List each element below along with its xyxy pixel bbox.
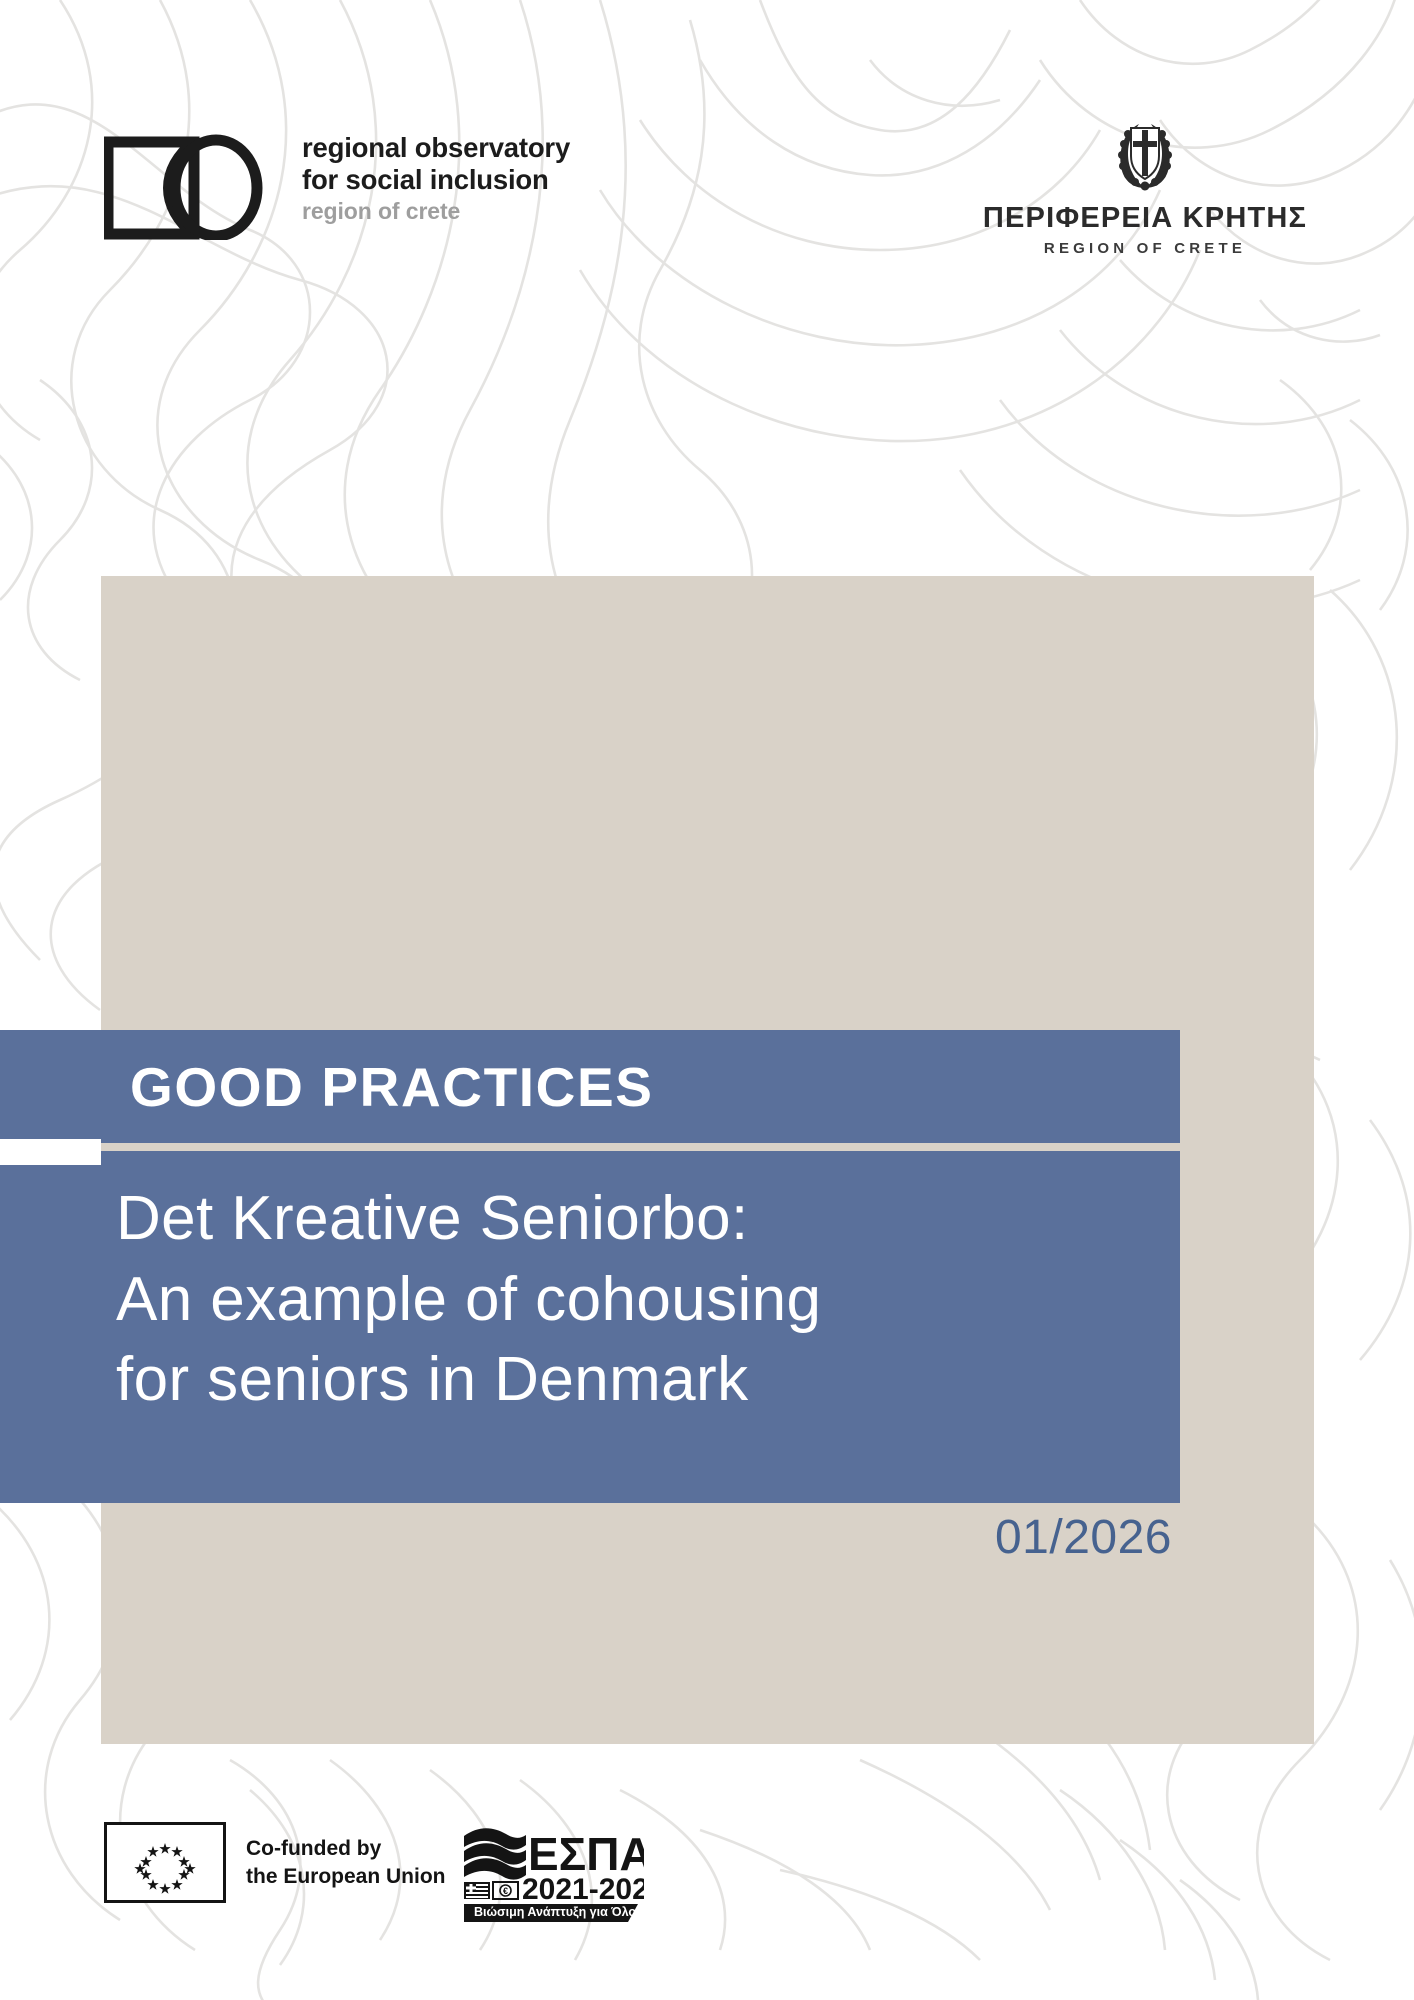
region-name-english: REGION OF CRETE [960, 240, 1330, 257]
eu-cofunding-logo: Co-funded by the European Union [104, 1822, 446, 1903]
observatory-line-3: region of crete [302, 198, 570, 225]
region-of-crete-logo: ΠΕΡΙΦΕΡΕΙΑ ΚΡΗΤΗΣ REGION OF CRETE [960, 118, 1330, 257]
good-practices-banner: GOOD PRACTICES [0, 1030, 1180, 1143]
espa-logo: ΕΣΠΑ € 2021-2027 [462, 1820, 644, 1924]
eu-text-line-1: Co-funded by [246, 1835, 446, 1863]
publication-date-value: 01/2026 [995, 1511, 1180, 1564]
region-name-greek: ΠΕΡΙΦΕΡΕΙΑ ΚΡΗΤΗΣ [960, 202, 1330, 235]
page-header: regional observatory for social inclusio… [0, 0, 1414, 300]
page-title-line-1: Det Kreative Seniorbo: [116, 1179, 1180, 1260]
espa-tagline: Βιώσιμη Ανάπτυξη για Όλους [474, 1905, 644, 1919]
espa-period: 2021-2027 [522, 1873, 644, 1906]
page-footer: Co-funded by the European Union ΕΣΠΑ [0, 1818, 1414, 1938]
eu-text-line-2: the European Union [246, 1863, 446, 1891]
observatory-line-1: regional observatory [302, 132, 570, 164]
greek-coat-of-arms-icon [1109, 118, 1181, 194]
observatory-mark-icon [104, 128, 264, 240]
svg-text:€: € [503, 1886, 508, 1896]
observatory-logo-text: regional observatory for social inclusio… [302, 132, 570, 224]
eu-euro-icon: € [493, 1882, 518, 1899]
banner-gap-notch [0, 1139, 101, 1165]
title-banner: Det Kreative Seniorbo: An example of coh… [0, 1151, 1180, 1503]
european-union-flag-icon [104, 1822, 226, 1903]
page-title-line-2: An example of cohousing [116, 1260, 1180, 1341]
page-title: Det Kreative Seniorbo: An example of coh… [116, 1151, 1180, 1421]
observatory-logo: regional observatory for social inclusio… [104, 128, 570, 240]
page-title-line-3: for seniors in Denmark [116, 1340, 1180, 1421]
espa-wave-icon [464, 1828, 526, 1879]
observatory-line-2: for social inclusion [302, 164, 570, 196]
greek-flag-icon [464, 1882, 490, 1899]
banner-kicker-label: GOOD PRACTICES [130, 1055, 654, 1119]
publication-date: 01/2026 [0, 1510, 1180, 1565]
cover-page: regional observatory for social inclusio… [0, 0, 1414, 2000]
eu-cofunding-text: Co-funded by the European Union [246, 1835, 446, 1890]
